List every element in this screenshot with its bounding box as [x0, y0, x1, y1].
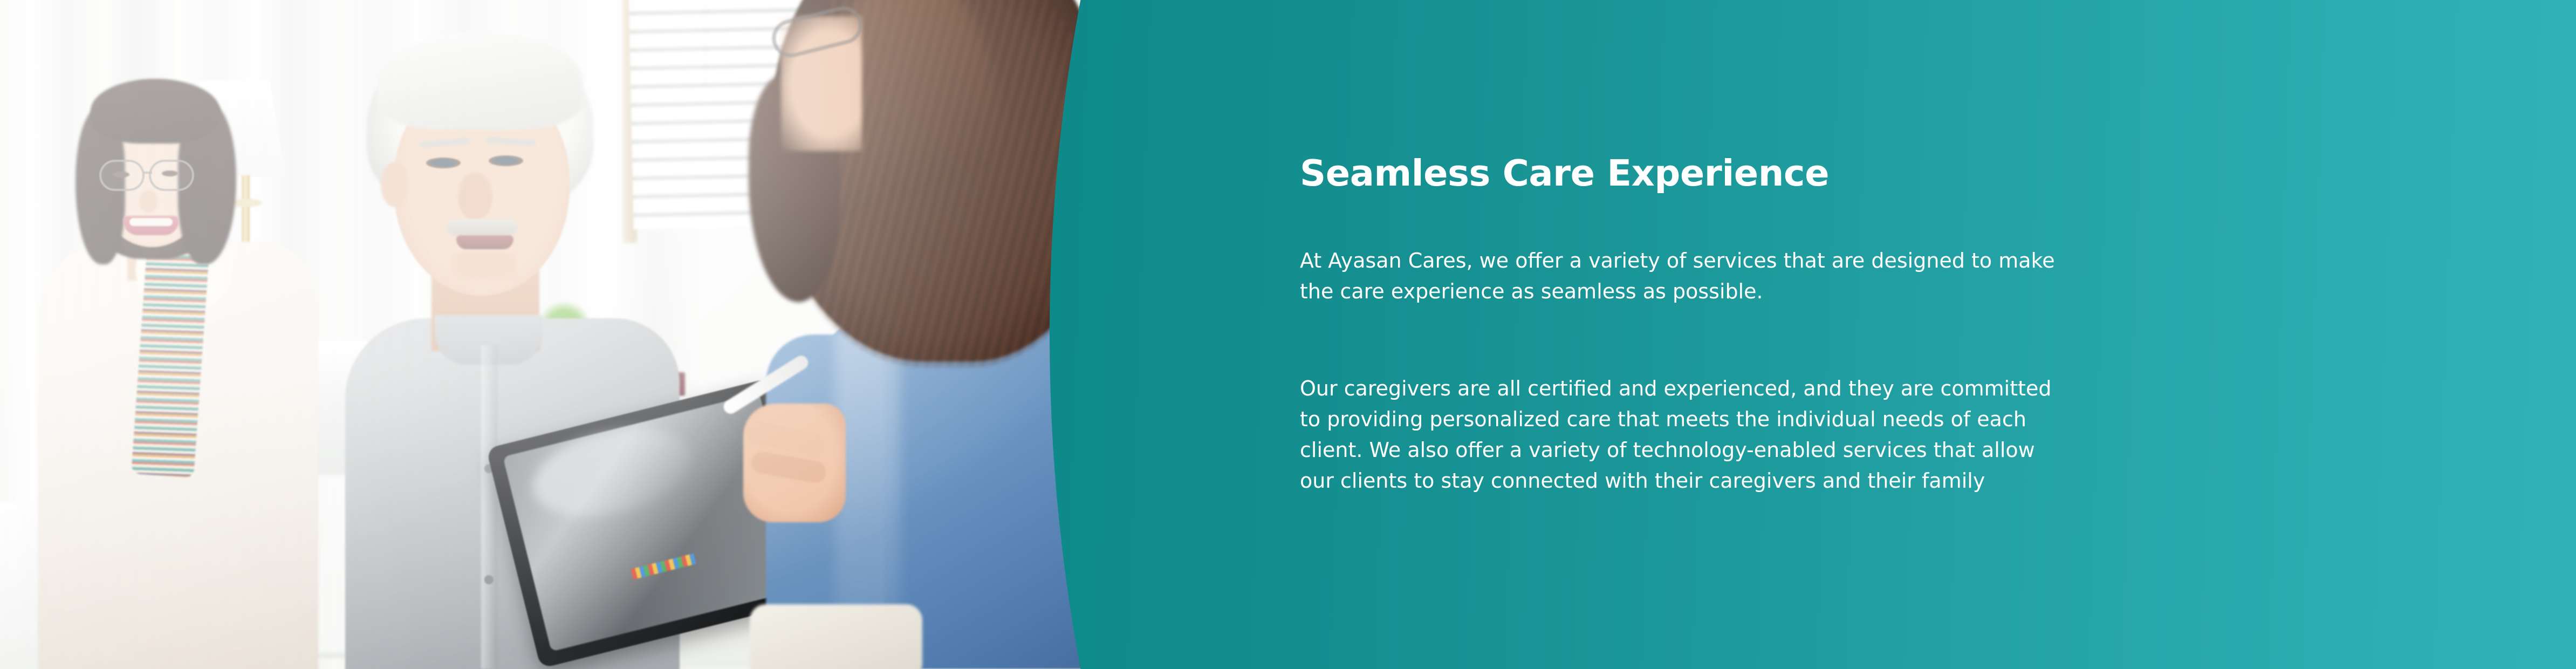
paragraph-line: our clients to stay connected with their… — [1300, 466, 2282, 496]
hero-paragraph-1: At Ayasan Cares, we offer a variety of s… — [1300, 245, 2282, 307]
page-title: Seamless Care Experience — [1300, 152, 1829, 194]
paragraph-line: Our caregivers are all certified and exp… — [1300, 373, 2282, 404]
hero-banner: Seamless Care Experience At Ayasan Cares… — [0, 0, 2576, 669]
paragraph-line: At Ayasan Cares, we offer a variety of s… — [1300, 245, 2282, 276]
hero-paragraph-2: Our caregivers are all certified and exp… — [1300, 373, 2282, 496]
hero-text-block: Seamless Care Experience At Ayasan Cares… — [1300, 0, 2379, 669]
paragraph-line: the care experience as seamless as possi… — [1300, 276, 2282, 307]
paragraph-line: client. We also offer a variety of techn… — [1300, 435, 2282, 466]
hero-photo — [0, 0, 1187, 669]
paragraph-line: to providing personalized care that meet… — [1300, 404, 2282, 435]
photo-soft-overlay — [0, 0, 1187, 669]
